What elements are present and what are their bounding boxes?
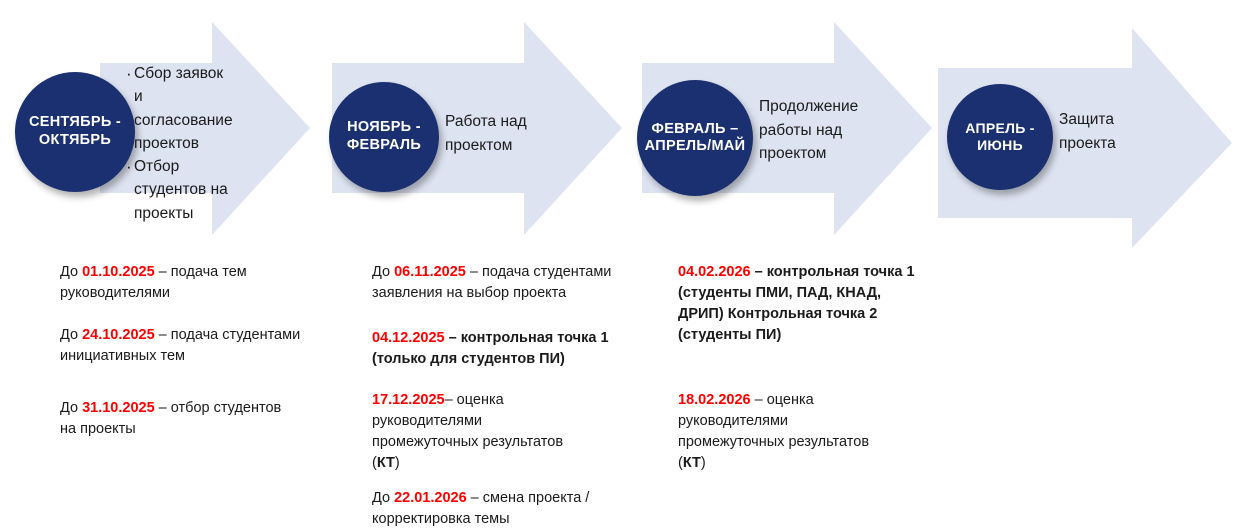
note-item-1-3: До 31.10.2025 – отбор студентов на проек… bbox=[60, 398, 290, 440]
note-item-3-1: 04.02.2026 – контрольная точка 1 (студен… bbox=[678, 262, 926, 346]
stage-circle-1: СЕНТЯБРЬ - ОКТЯБРЬ bbox=[15, 72, 135, 192]
stage-circle-2: НОЯБРЬ - ФЕВРАЛЬ bbox=[329, 82, 439, 192]
note-item-2-1: До 06.11.2025 – подача студентами заявле… bbox=[372, 262, 612, 304]
note-date: 24.10.2025 bbox=[82, 327, 155, 343]
stage-circle-label-3: ФЕВРАЛЬ – АПРЕЛЬ/МАЙ bbox=[637, 121, 753, 155]
stage-description-2: Работа над проектом bbox=[445, 110, 555, 157]
stage-circle-label-1: СЕНТЯБРЬ - ОКТЯБРЬ bbox=[15, 114, 135, 149]
note-item-2-3: 17.12.2025– оценка руководителями промеж… bbox=[372, 390, 587, 474]
note-emphasis: КТ bbox=[377, 455, 395, 471]
stage-circle-label-4: АПРЕЛЬ - ИЮНЬ bbox=[947, 120, 1053, 154]
stage-bullet-1-1: Сбор заявок и согласование проектов bbox=[126, 62, 234, 155]
note-tail: ) bbox=[395, 455, 400, 471]
note-date: 22.01.2026 bbox=[394, 490, 467, 506]
note-item-1-2: До 24.10.2025 – подача студентами инициа… bbox=[60, 325, 302, 367]
note-prefix: До bbox=[60, 327, 82, 343]
note-item-1-1: До 01.10.2025 – подача тем руководителям… bbox=[60, 262, 290, 304]
timeline-stage-3: ФЕВРАЛЬ – АПРЕЛЬ/МАЙ Продолжение работы … bbox=[622, 0, 942, 250]
note-date: 04.02.2026 bbox=[678, 264, 751, 280]
note-date: 04.12.2025 bbox=[372, 330, 445, 346]
stage-circle-4: АПРЕЛЬ - ИЮНЬ bbox=[947, 84, 1053, 190]
milestone-notes: До 01.10.2025 – подача тем руководителям… bbox=[0, 250, 1238, 532]
note-date: 31.10.2025 bbox=[82, 400, 155, 416]
note-date: 17.12.2025 bbox=[372, 392, 445, 408]
note-tail: ) bbox=[701, 455, 706, 471]
note-prefix: До bbox=[60, 264, 82, 280]
note-prefix: До bbox=[372, 490, 394, 506]
note-prefix: До bbox=[60, 400, 82, 416]
stage-description-4: Защита проекта bbox=[1059, 108, 1159, 155]
stage-description-3: Продолжение работы над проектом bbox=[759, 95, 871, 166]
note-item-2-2: 04.12.2025 – контрольная точка 1 (только… bbox=[372, 328, 624, 370]
timeline-stage-4: АПРЕЛЬ - ИЮНЬ Защита проекта bbox=[918, 0, 1238, 250]
note-date: 01.10.2025 bbox=[82, 264, 155, 280]
timeline-stage-1: СЕНТЯБРЬ - ОКТЯБРЬ Сбор заявок и согласо… bbox=[0, 0, 320, 250]
timeline-stage-2: НОЯБРЬ - ФЕВРАЛЬ Работа над проектом bbox=[312, 0, 632, 250]
note-date: 18.02.2026 bbox=[678, 392, 751, 408]
note-item-2-4: До 22.01.2026 – смена проекта / корректи… bbox=[372, 488, 627, 530]
stage-circle-3: ФЕВРАЛЬ – АПРЕЛЬ/МАЙ bbox=[637, 80, 753, 196]
stage-circle-label-2: НОЯБРЬ - ФЕВРАЛЬ bbox=[329, 119, 439, 154]
note-emphasis: КТ bbox=[683, 455, 701, 471]
note-item-3-2: 18.02.2026 – оценка руководителями проме… bbox=[678, 390, 893, 474]
timeline-diagram: СЕНТЯБРЬ - ОКТЯБРЬ Сбор заявок и согласо… bbox=[0, 0, 1238, 250]
stage-bullet-1-2: Отбор студентов на проекты bbox=[126, 155, 234, 225]
stage-description-1: Сбор заявок и согласование проектов Отбо… bbox=[126, 62, 234, 225]
note-prefix: До bbox=[372, 264, 394, 280]
note-date: 06.11.2025 bbox=[394, 264, 466, 280]
